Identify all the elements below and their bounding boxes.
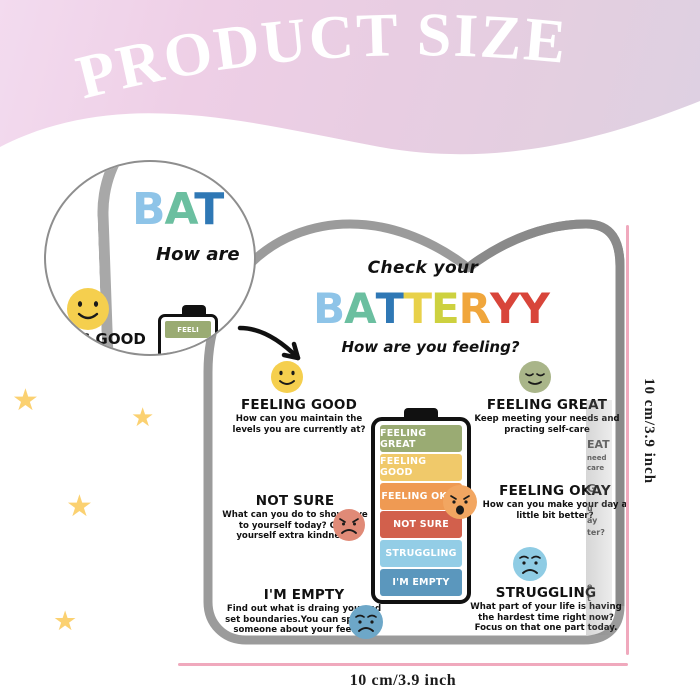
magnified-subhead: How are [156,244,240,265]
width-guide-line [178,663,628,666]
magnified-battery-graphic: FEELI [158,305,218,356]
callout-title: FEELING GOOD [224,398,374,413]
magnified-letter: T [194,184,223,235]
headline-letter: E [431,284,459,333]
callout-title: NOT SURE [220,494,370,509]
headline-battery: BATTERYY [296,284,566,333]
headline-subhead: How are you feeling? [308,338,553,356]
headline-letter: Y [519,284,548,333]
screenshot-root: PRODUCT SIZE ★ ★ ★ ★ Check your BATTERYY… [0,0,700,700]
product-content: Check your BATTERYY How are you feeling?… [228,236,618,646]
battery-cell: I'M EMPTY [380,569,462,596]
reflection-text: care [587,464,604,472]
headline-letter: B [313,284,344,333]
height-dimension-label: 10 cm/3.9 inch [640,378,657,484]
magnified-smile-face-icon [66,287,110,336]
magnified-callout-label: G GOOD [78,330,146,348]
headline-letter: A [344,284,376,333]
magnifier-content: BAT How are G GOOD FEELI [46,162,254,354]
battery-body: FEELI [158,314,218,356]
sad-lightblue-face-icon [512,546,548,582]
frown-red-face-icon [332,508,366,542]
reflection-text: e [587,582,592,591]
worried-orange-face-icon [442,484,478,520]
magnifier-detail-circle: BAT How are G GOOD FEELI [44,160,260,360]
magnified-battery-word: BAT [132,184,223,235]
width-dimension-label: 10 cm/3.9 inch [178,672,628,690]
sad-blue-face-icon [348,604,384,640]
reflection-text: need [587,454,607,462]
height-guide-line [626,225,629,655]
battery-cell: FEELING GREAT [380,425,462,452]
magnifier-ring: BAT How are G GOOD FEELI [44,160,256,356]
headline-letter: Y [490,284,519,333]
magnified-letter: A [165,184,195,235]
star-icon: ★ [131,404,154,430]
battery-cell: FEELI [165,321,211,338]
star-icon: ★ [66,492,93,522]
headline-letter: R [459,284,490,333]
magnified-letter: B [132,184,165,235]
headline-letter: T [376,284,404,333]
star-icon: ★ [53,608,77,635]
star-icon: ★ [12,386,39,416]
reflection-text: t [587,594,591,603]
reflection-text: u [587,504,593,513]
callout-description: How can you maintain the levels you are … [224,414,374,435]
reflection-text: ay [587,516,597,525]
content-green-face-icon [518,360,552,394]
acrylic-edge-reflection: EAT need care G u ay ter? e t [586,400,612,635]
callout-title: I'M EMPTY [224,588,384,603]
reflection-text: EAT [587,438,610,451]
reflection-text: G [587,482,596,495]
headline-small: Check your [323,258,523,278]
pointer-arrow-icon [236,322,316,374]
battery-cell: STRUGGLING [380,540,462,567]
battery-cell: FEELING GOOD [380,454,462,481]
headline-letter: T [403,284,431,333]
callout-feeling-good: FEELING GOOD How can you maintain the le… [224,398,374,435]
reflection-text: ter? [587,528,605,537]
